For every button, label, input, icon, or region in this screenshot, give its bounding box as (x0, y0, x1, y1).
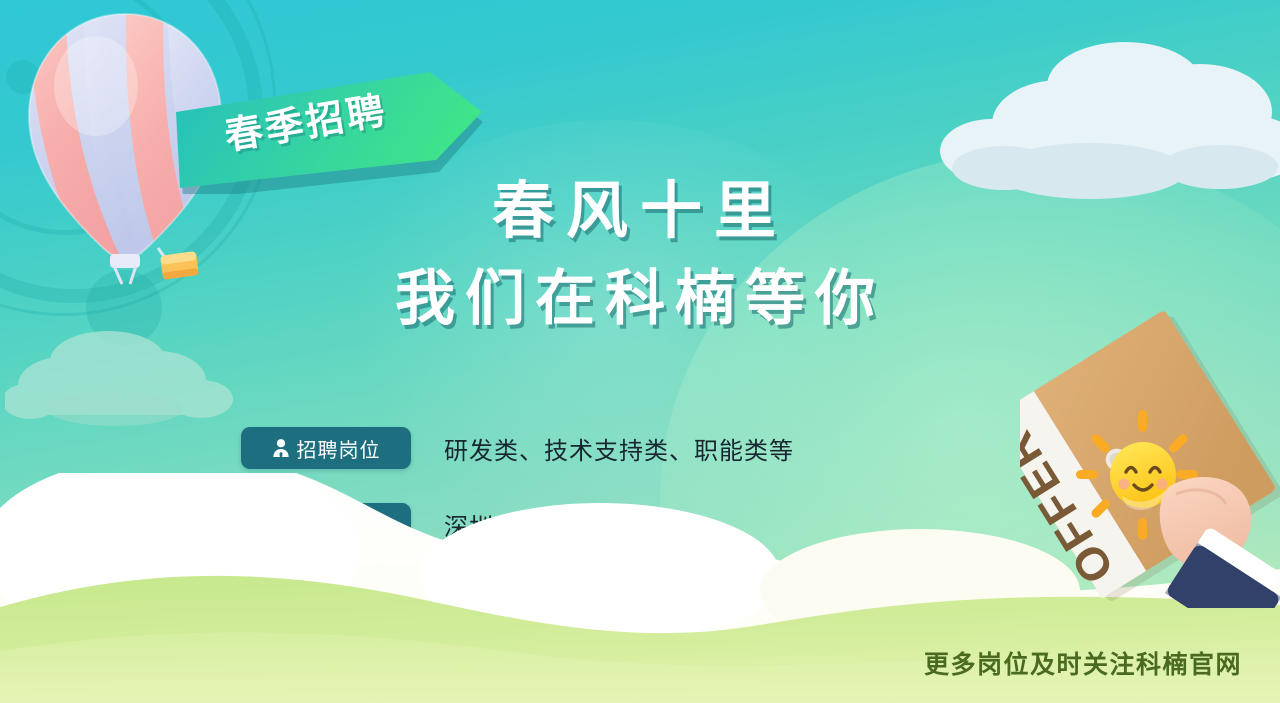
badge-location[interactable]: 工作地点 (241, 503, 411, 545)
info-row-location: 工作地点 深圳、西安 (241, 503, 794, 545)
headline-line-2: 我们在科楠等你 (330, 256, 950, 341)
ribbon-banner: 春季招聘 (168, 72, 498, 194)
map-pin-icon (272, 514, 290, 534)
recruitment-poster: 春季招聘 春风十里 我们在科楠等你 招聘岗位 研发类、技术支持类、职能类等 (0, 0, 1280, 703)
hand-holding-offer-icon: OFFER (1020, 308, 1280, 608)
badge-location-label: 工作地点 (297, 510, 381, 539)
person-icon (272, 438, 290, 458)
cloud-icon (5, 325, 235, 435)
info-value-location: 深圳、西安 (444, 507, 569, 542)
info-block: 招聘岗位 研发类、技术支持类、职能类等 工作地点 深圳、西安 (241, 427, 794, 579)
info-value-positions: 研发类、技术支持类、职能类等 (444, 431, 794, 466)
badge-positions-label: 招聘岗位 (297, 434, 381, 463)
badge-positions[interactable]: 招聘岗位 (241, 427, 411, 469)
cloud-icon (900, 28, 1280, 213)
info-row-positions: 招聘岗位 研发类、技术支持类、职能类等 (241, 427, 794, 469)
footer-note: 更多岗位及时关注科楠官网 (924, 645, 1242, 681)
